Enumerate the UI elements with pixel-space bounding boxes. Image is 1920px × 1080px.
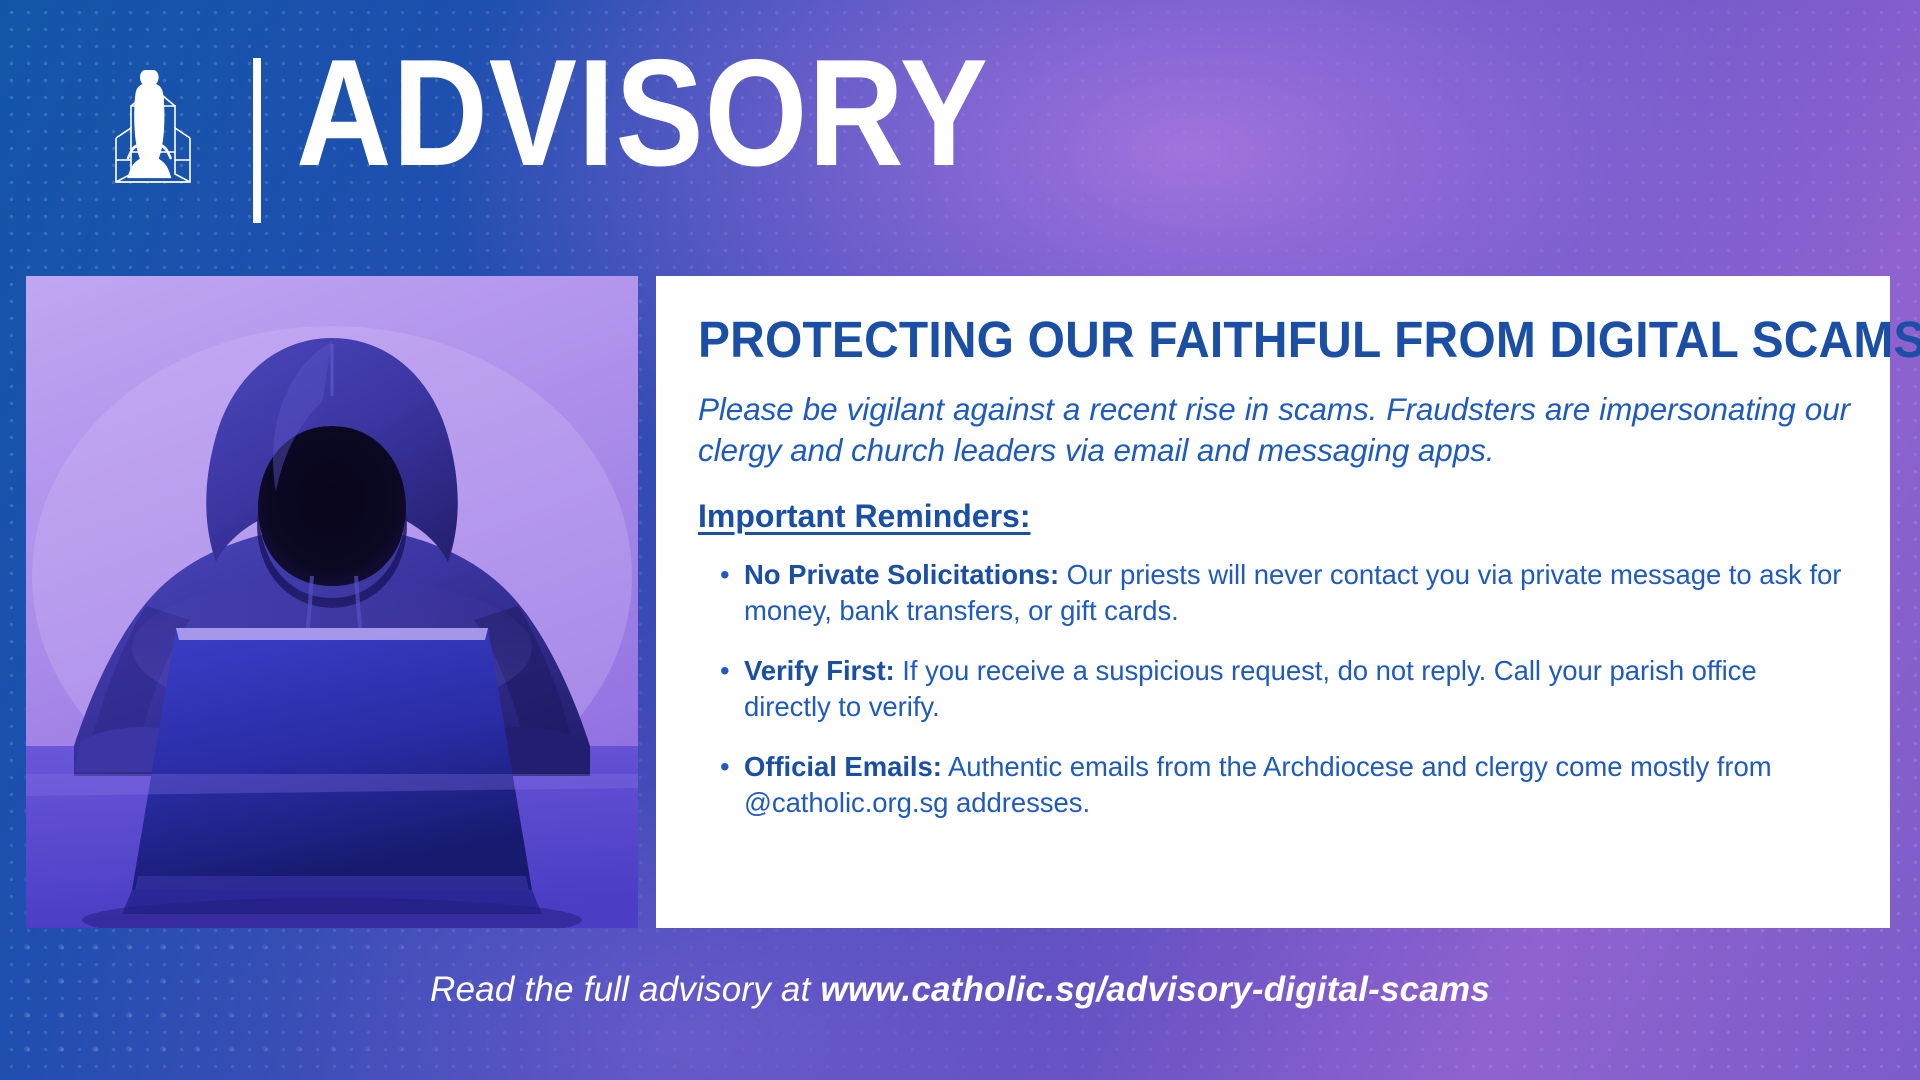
footer-prefix: Read the full advisory at: [430, 970, 820, 1009]
bullet-icon: •: [720, 653, 730, 688]
list-item-lead: No Private Solicitations:: [744, 559, 1059, 590]
list-item-text: If you receive a suspicious request, do …: [744, 655, 1757, 721]
advisory-headline: PROTECTING OUR FAITHFUL FROM DIGITAL SCA…: [698, 314, 1781, 367]
important-reminders-heading: Important Reminders:: [698, 498, 1850, 535]
archdiocese-madonna-logo-icon: [104, 62, 202, 186]
page-title: ADVISORY: [296, 37, 989, 189]
list-item: • Verify First: If you receive a suspici…: [744, 653, 1850, 724]
header-banner: ADVISORY: [0, 0, 1920, 250]
hooded-figure-photo: [26, 276, 638, 928]
list-item: • Official Emails: Authentic emails from…: [744, 749, 1850, 820]
bullet-icon: •: [720, 557, 730, 592]
bullet-icon: •: [720, 749, 730, 784]
list-item-lead: Verify First:: [744, 655, 895, 686]
reminders-list: • No Private Solicitations: Our priests …: [698, 557, 1850, 820]
list-item: • No Private Solicitations: Our priests …: [744, 557, 1850, 628]
advisory-url[interactable]: www.catholic.sg/advisory-digital-scams: [820, 970, 1490, 1009]
list-item-lead: Official Emails:: [744, 751, 942, 782]
advisory-intro-paragraph: Please be vigilant against a recent rise…: [698, 389, 1850, 473]
footer-callout: Read the full advisory at www.catholic.s…: [0, 970, 1920, 1010]
advisory-poster: ADVISORY: [0, 0, 1920, 1080]
advisory-content-card: PROTECTING OUR FAITHFUL FROM DIGITAL SCA…: [656, 276, 1890, 928]
header-divider: [253, 58, 261, 223]
